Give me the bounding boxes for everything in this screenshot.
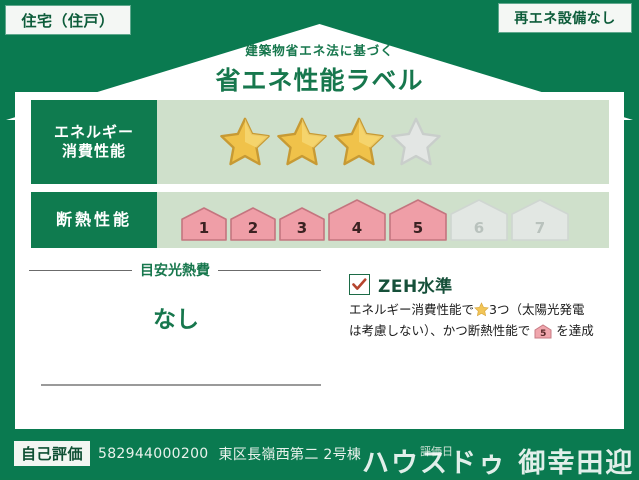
insulation-level-scale: 1234567 — [181, 199, 569, 241]
title-subtitle: 建築物省エネ法に基づく — [0, 40, 639, 59]
badge-renewable-equipment: 再エネ設備なし — [499, 4, 631, 32]
star-filled-icon — [219, 116, 271, 168]
insulation-level-number: 1 — [181, 219, 227, 237]
insulation-performance-value: 1234567 — [157, 192, 609, 248]
property-address: 東区長嶺西第二 2号棟 — [219, 444, 362, 464]
inline-insulation-badge-number: 5 — [534, 330, 552, 339]
insulation-label-text: 断熱性能 — [56, 210, 132, 230]
zeh-desc-part1: エネルギー消費性能で — [349, 302, 474, 317]
star-empty-icon — [390, 116, 442, 168]
insulation-performance-row: 断熱性能 1234567 — [31, 192, 609, 248]
utility-cost-heading: 目安光熱費 — [29, 260, 321, 280]
label-title: 建築物省エネ法に基づく 省エネ性能ラベル — [0, 40, 639, 97]
heading-rule-right — [218, 270, 321, 271]
energy-performance-row: エネルギー 消費性能 — [31, 100, 609, 184]
energy-performance-label: エネルギー 消費性能 — [31, 100, 157, 184]
utility-cost-value: なし — [15, 300, 337, 334]
energy-performance-value — [157, 100, 609, 184]
star-filled-icon — [276, 116, 328, 168]
zeh-heading: ZEH水準 — [349, 272, 453, 297]
self-evaluation-badge: 自己評価 — [14, 441, 90, 466]
label-content-card: エネルギー 消費性能 断熱性能 1234567 目安光熱費 — [15, 92, 624, 429]
insulation-level-number: 2 — [230, 219, 276, 237]
footer-bar: 自己評価 582944000200 東区長嶺西第二 2号棟 評価日 ハウスドゥ … — [0, 429, 639, 478]
insulation-level-on: 3 — [279, 207, 325, 241]
star-rating — [219, 116, 442, 168]
insulation-level-number: 4 — [328, 219, 386, 237]
zeh-description: エネルギー消費性能で 3つ（太陽光発電 は考慮しない）、かつ断熱性能で 5 を達… — [349, 300, 603, 341]
insulation-level-number: 6 — [450, 219, 508, 237]
insulation-performance-label: 断熱性能 — [31, 192, 157, 248]
zeh-desc-part2: は考慮しない）、かつ断熱性能で — [349, 323, 530, 338]
utility-cost-section: 目安光熱費 なし — [15, 252, 337, 429]
label-id: 582944000200 — [98, 446, 209, 462]
insulation-level-on: 2 — [230, 207, 276, 241]
energy-label-card: 住宅（住戸） 再エネ設備なし 建築物省エネ法に基づく 省エネ性能ラベル エネルギ… — [0, 0, 639, 478]
insulation-level-on: 4 — [328, 199, 386, 241]
insulation-level-on: 1 — [181, 207, 227, 241]
insulation-level-off: 7 — [511, 199, 569, 241]
star-filled-icon — [333, 116, 385, 168]
energy-label-line1: エネルギー — [54, 123, 134, 142]
energy-label-line2: 消費性能 — [62, 142, 126, 161]
insulation-level-number: 5 — [389, 219, 447, 237]
insulation-level-on: 5 — [389, 199, 447, 241]
zeh-desc-part3: を達成 — [556, 323, 594, 338]
inline-insulation-badge-icon: 5 — [534, 324, 552, 339]
utility-cost-divider — [41, 384, 321, 386]
lower-section: 目安光熱費 なし ZEH水準 エネルギー消費性能で — [15, 252, 624, 429]
agency-watermark: ハウスドゥ 御幸田迎 — [362, 441, 637, 477]
zeh-desc-star-count: 3つ（太陽光発電 — [489, 302, 584, 317]
insulation-level-off: 6 — [450, 199, 508, 241]
insulation-level-number: 3 — [279, 219, 325, 237]
insulation-level-number: 7 — [511, 219, 569, 237]
inline-star-icon — [474, 302, 489, 317]
zeh-title: ZEH水準 — [378, 272, 453, 297]
heading-rule-left — [29, 270, 132, 271]
badge-building-type: 住宅（住戸） — [6, 6, 130, 34]
utility-cost-heading-text: 目安光熱費 — [140, 260, 210, 280]
zeh-checkbox[interactable] — [349, 274, 370, 295]
zeh-section: ZEH水準 エネルギー消費性能で 3つ（太陽光発電 は考慮しない）、かつ断熱性能… — [337, 252, 624, 429]
